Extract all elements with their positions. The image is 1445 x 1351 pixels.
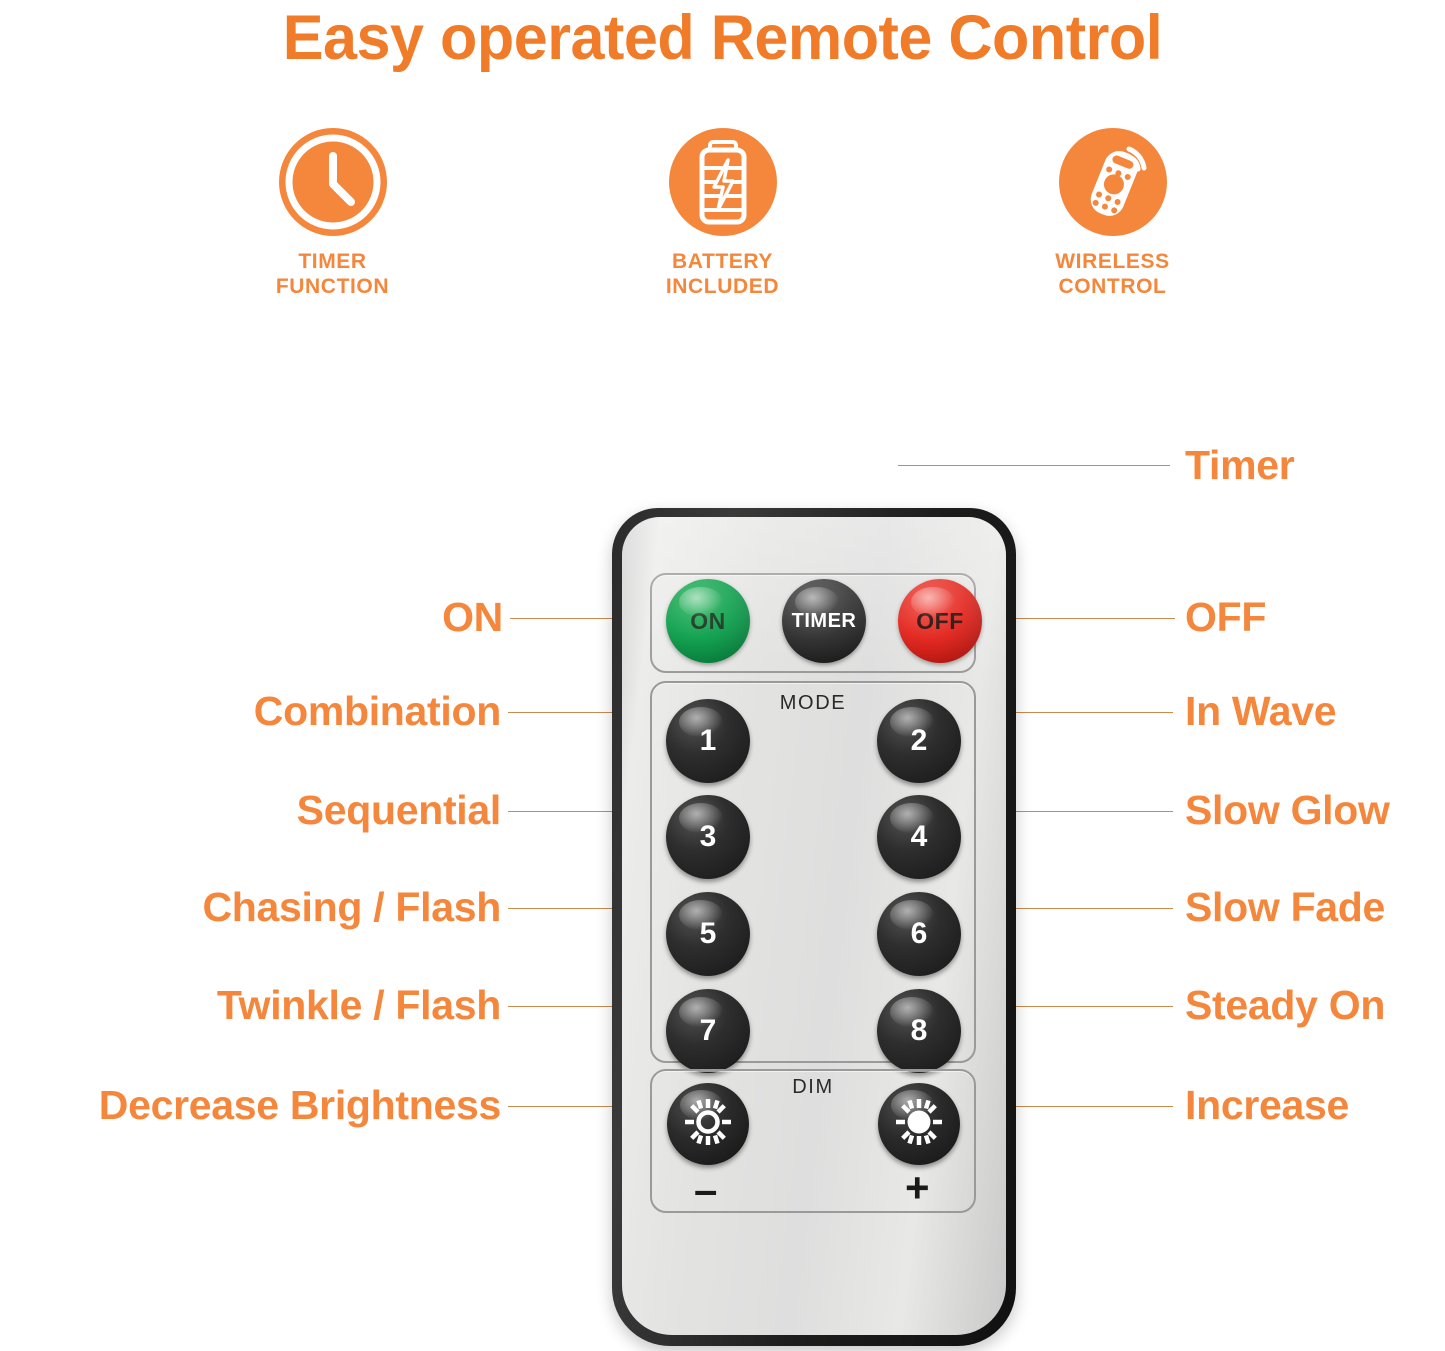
callout-timer: Timer bbox=[1185, 442, 1294, 489]
dim-increase-button[interactable] bbox=[878, 1083, 960, 1165]
feature-label: TIMER FUNCTION bbox=[276, 250, 389, 300]
on-button-label: ON bbox=[690, 608, 726, 635]
callout-sequential: Sequential bbox=[297, 787, 501, 834]
timer-button-label: TIMER bbox=[792, 610, 857, 633]
mode-button-label: 4 bbox=[911, 820, 928, 854]
timer-button[interactable]: TIMER bbox=[782, 579, 866, 663]
mode-button-8[interactable]: 8 bbox=[877, 989, 961, 1073]
callout-decrease-brightness: Decrease Brightness bbox=[99, 1082, 501, 1129]
callout-in-wave: In Wave bbox=[1185, 688, 1336, 735]
brightness-high-icon bbox=[893, 1096, 945, 1153]
page-title: Easy operated Remote Control bbox=[22, 2, 1424, 74]
mode-button-2[interactable]: 2 bbox=[877, 699, 961, 783]
dim-plus-sign: + bbox=[905, 1167, 930, 1209]
mode-button-label: 3 bbox=[700, 820, 717, 854]
callout-on: ON bbox=[442, 594, 503, 641]
infographic-page: Easy operated Remote Control TIMER FUNCT… bbox=[0, 0, 1445, 1351]
callout-chasing-flash: Chasing / Flash bbox=[203, 884, 502, 931]
brightness-low-icon bbox=[682, 1096, 734, 1153]
callout-off: OFF bbox=[1185, 594, 1266, 641]
feature-label: BATTERY INCLUDED bbox=[666, 250, 779, 300]
mode-button-label: 5 bbox=[700, 917, 717, 951]
callout-steady-on: Steady On bbox=[1185, 982, 1385, 1029]
battery-icon bbox=[669, 128, 777, 236]
dim-minus-sign: – bbox=[694, 1169, 717, 1211]
callout-slow-fade: Slow Fade bbox=[1185, 884, 1385, 931]
callout-twinkle-flash: Twinkle / Flash bbox=[217, 982, 501, 1029]
mode-button-label: 7 bbox=[700, 1014, 717, 1048]
leader-line-timer bbox=[898, 465, 1170, 466]
callout-combination: Combination bbox=[254, 688, 501, 735]
mode-button-1[interactable]: 1 bbox=[666, 699, 750, 783]
remote-face: ON TIMER OFF MODE 1 2 3 4 bbox=[622, 517, 1006, 1335]
on-button[interactable]: ON bbox=[666, 579, 750, 663]
mode-button-7[interactable]: 7 bbox=[666, 989, 750, 1073]
feature-battery-included: BATTERY INCLUDED bbox=[618, 128, 828, 300]
mode-button-label: 1 bbox=[700, 724, 717, 758]
clock-icon bbox=[279, 128, 387, 236]
feature-badges: TIMER FUNCTION BATTERY INCLUDED bbox=[0, 128, 1445, 300]
mode-button-4[interactable]: 4 bbox=[877, 795, 961, 879]
mode-button-3[interactable]: 3 bbox=[666, 795, 750, 879]
mode-button-label: 6 bbox=[911, 917, 928, 951]
feature-timer-function: TIMER FUNCTION bbox=[228, 128, 438, 300]
off-button[interactable]: OFF bbox=[898, 579, 982, 663]
mode-button-6[interactable]: 6 bbox=[877, 892, 961, 976]
feature-wireless-control: WIRELESS CONTROL bbox=[1008, 128, 1218, 300]
remote-icon bbox=[1059, 128, 1167, 236]
mode-button-label: 8 bbox=[911, 1014, 928, 1048]
remote-control-device: ON TIMER OFF MODE 1 2 3 4 bbox=[612, 508, 1016, 1346]
off-button-label: OFF bbox=[916, 608, 964, 635]
dim-decrease-button[interactable] bbox=[667, 1083, 749, 1165]
mode-button-5[interactable]: 5 bbox=[666, 892, 750, 976]
mode-button-label: 2 bbox=[911, 724, 928, 758]
callout-slow-glow: Slow Glow bbox=[1185, 787, 1390, 834]
feature-label: WIRELESS CONTROL bbox=[1055, 250, 1169, 300]
callout-increase: Increase bbox=[1185, 1082, 1349, 1129]
